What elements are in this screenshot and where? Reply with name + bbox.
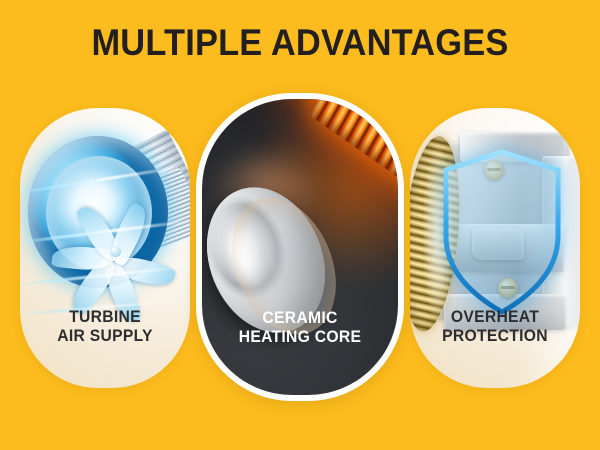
page-title: MULTIPLE ADVANTAGES [21, 22, 579, 64]
advantages-poster: MULTIPLE ADVANTAGES TURBINE AIR S [0, 0, 600, 450]
card-caption: CERAMIC HEATING CORE [207, 309, 393, 347]
card-caption: TURBINE AIR SUPPLY [24, 308, 186, 346]
card-caption-line2: HEATING CORE [207, 328, 393, 347]
card-caption-line2: PROTECTION [414, 327, 576, 346]
turbine-center-pin [110, 246, 121, 257]
advantage-card-ceramic-heating-core[interactable]: CERAMIC HEATING CORE [196, 93, 404, 401]
card-caption: OVERHEAT PROTECTION [414, 308, 576, 346]
card-center-interior: CERAMIC HEATING CORE [202, 99, 398, 395]
turbine-fan-icon [20, 108, 190, 388]
heating-coil-icon [202, 99, 398, 395]
card-caption-line1: OVERHEAT [414, 308, 576, 327]
card-caption-line1: CERAMIC [207, 309, 393, 328]
advantage-card-overheat-protection[interactable]: OVERHEAT PROTECTION [410, 108, 580, 388]
card-caption-line1: TURBINE [24, 308, 186, 327]
advantage-card-turbine-air-supply[interactable]: TURBINE AIR SUPPLY [20, 108, 190, 388]
card-caption-line2: AIR SUPPLY [24, 327, 186, 346]
protection-shield-overlay [440, 148, 564, 316]
shield-icon [410, 108, 580, 388]
